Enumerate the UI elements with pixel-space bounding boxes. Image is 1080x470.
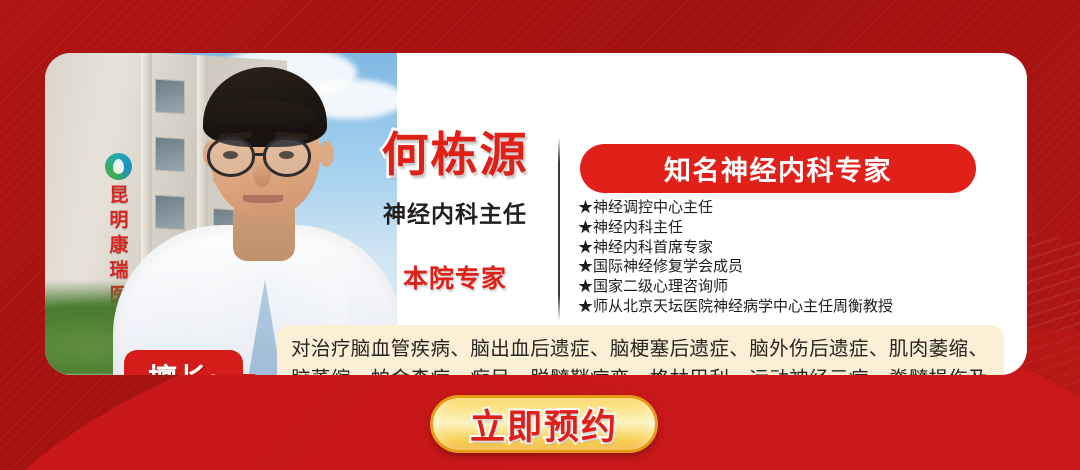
profile-card: 昆 明 康 瑞 医 院 <box>45 53 1027 375</box>
credentials-banner: 知名神经内科专家 <box>580 144 976 193</box>
credential-item: ★师从北京天坛医院神经病学中心主任周衡教授 <box>578 297 1008 317</box>
credentials-banner-label: 知名神经内科专家 <box>664 149 892 188</box>
credential-item: ★神经内科首席专家 <box>578 238 1008 258</box>
specialty-description-text: 对治疗脑血管疾病、脑出血后遗症、脑梗塞后遗症、脑外伤后遗症、肌肉萎缩、脑萎缩、帕… <box>291 334 988 375</box>
doctor-identity: 何栋源 神经内科主任 本院专家 <box>357 129 553 319</box>
credential-item: ★神经内科主任 <box>578 218 1008 238</box>
specialty-label-bubble: 擅长: <box>124 350 243 375</box>
specialty-description-box: 对治疗脑血管疾病、脑出血后遗症、脑梗塞后遗症、脑外伤后遗症、肌肉萎缩、脑萎缩、帕… <box>277 325 1004 375</box>
doctor-name: 何栋源 <box>357 129 553 182</box>
glasses-icon <box>207 137 255 177</box>
vertical-divider <box>558 137 560 321</box>
book-appointment-button[interactable]: 立即预约 <box>430 395 658 453</box>
book-appointment-label: 立即预约 <box>470 399 618 450</box>
doctor-tag: 本院专家 <box>357 259 553 295</box>
doctor-title: 神经内科主任 <box>357 195 553 229</box>
credentials-list: ★神经调控中心主任 ★神经内科主任 ★神经内科首席专家 ★国际神经修复学会成员 … <box>578 198 1008 317</box>
credential-item: ★国际神经修复学会成员 <box>578 257 1008 277</box>
specialty-label: 擅长: <box>148 356 219 376</box>
credential-item: ★神经调控中心主任 <box>578 198 1008 218</box>
credential-item: ★国家二级心理咨询师 <box>578 277 1008 297</box>
